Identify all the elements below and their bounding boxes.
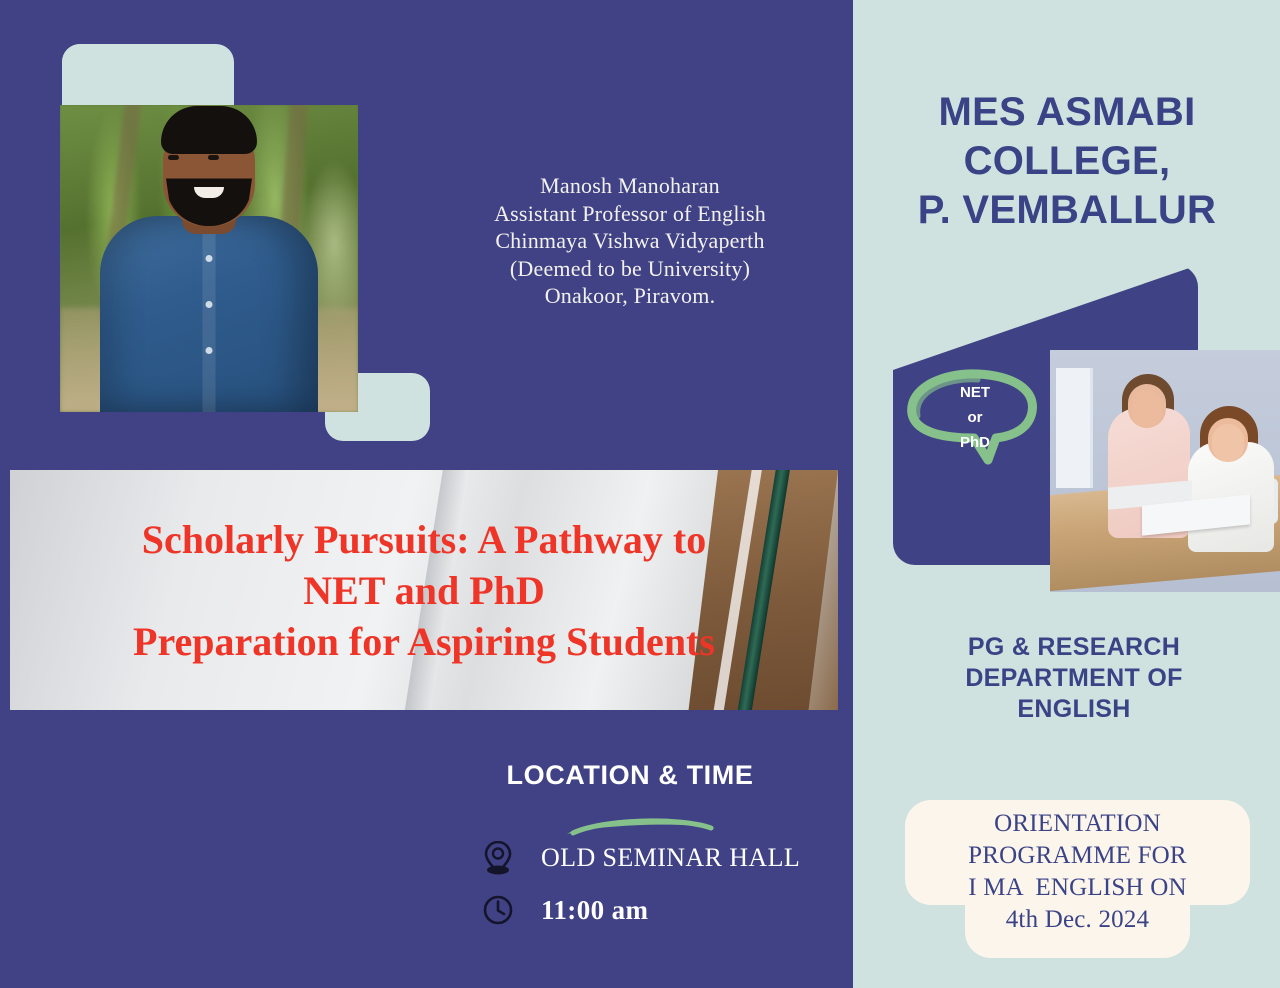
students-studying-photo	[1050, 350, 1280, 592]
speaker-designation: Assistant Professor of English	[420, 200, 840, 228]
speaker-name: Manosh Manoharan	[420, 172, 840, 200]
programme-card-text: ORIENTATION PROGRAMME FOR I MA ENGLISH O…	[905, 808, 1250, 936]
event-title: Scholarly Pursuits: A Pathway to NET and…	[10, 470, 838, 710]
department-line-3: ENGLISH	[900, 694, 1248, 725]
venue-row: OLD SEMINAR HALL	[420, 838, 840, 878]
speaker-portrait-photo	[60, 105, 358, 412]
clock-icon	[477, 894, 519, 926]
venue-label: OLD SEMINAR HALL	[519, 843, 800, 873]
college-name: MES ASMABI COLLEGE, P. VEMBALLUR	[861, 88, 1273, 235]
college-name-line-3: P. VEMBALLUR	[861, 186, 1273, 235]
programme-line-2: PROGRAMME FOR	[905, 840, 1250, 872]
bubble-line-2: or	[940, 405, 1010, 430]
time-row: 11:00 am	[420, 890, 840, 930]
speaker-institution: Chinmaya Vishwa Vidyaperth	[420, 227, 840, 255]
event-title-line-2: NET and PhD	[133, 565, 715, 616]
bubble-line-3: PhD	[940, 430, 1010, 455]
programme-line-4: 4th Dec. 2024	[905, 904, 1250, 936]
time-label: 11:00 am	[519, 895, 648, 926]
title-banner: Scholarly Pursuits: A Pathway to NET and…	[10, 470, 838, 710]
college-name-line-1: MES ASMABI	[861, 88, 1273, 137]
college-name-line-2: COLLEGE,	[861, 137, 1273, 186]
department-line-2: DEPARTMENT OF	[900, 663, 1248, 694]
location-time-heading: LOCATION & TIME	[420, 760, 840, 791]
event-poster: Manosh Manoharan Assistant Professor of …	[0, 0, 1280, 988]
speaker-place: Onakoor, Piravom.	[420, 282, 840, 310]
programme-line-1: ORIENTATION	[905, 808, 1250, 840]
event-title-line-1: Scholarly Pursuits: A Pathway to	[133, 514, 715, 565]
map-pin-icon	[477, 839, 519, 877]
department-line-1: PG & RESEARCH	[900, 632, 1248, 663]
programme-line-3: I MA ENGLISH ON	[905, 872, 1250, 904]
department-name: PG & RESEARCH DEPARTMENT OF ENGLISH	[900, 632, 1248, 725]
speaker-institution-note: (Deemed to be University)	[420, 255, 840, 283]
speaker-details: Manosh Manoharan Assistant Professor of …	[420, 172, 840, 310]
location-time-rows: OLD SEMINAR HALL 11:00 am	[420, 838, 840, 942]
bubble-text: NET or PhD	[940, 380, 1010, 455]
event-title-line-3: Preparation for Aspiring Students	[133, 616, 715, 667]
bubble-line-1: NET	[940, 380, 1010, 405]
green-brush-underline	[563, 808, 719, 838]
